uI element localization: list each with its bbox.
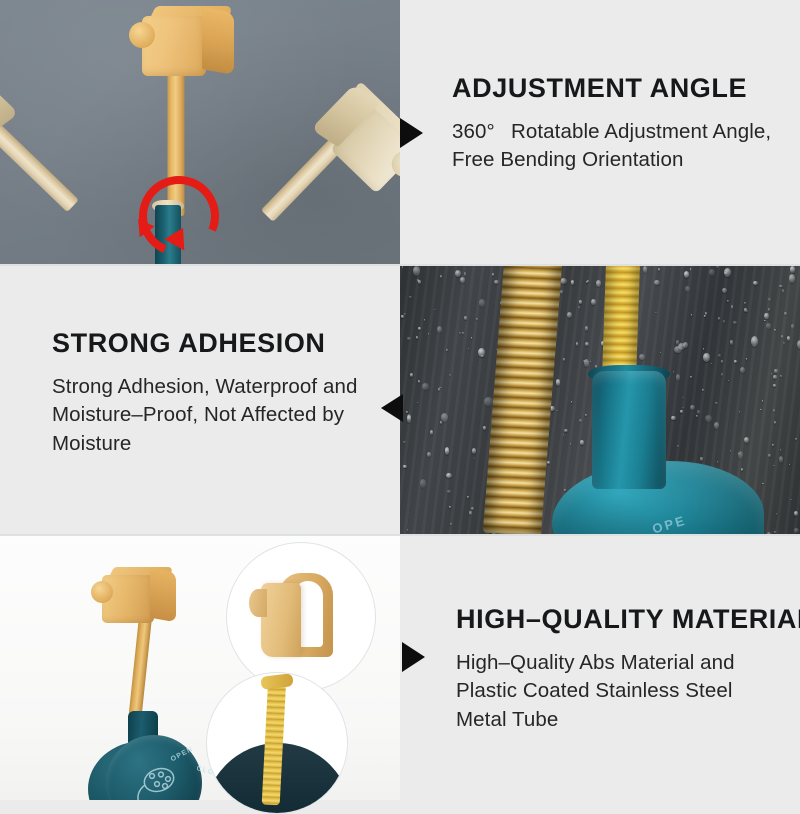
water-droplet bbox=[403, 441, 406, 444]
water-droplet bbox=[476, 318, 478, 321]
water-droplet bbox=[471, 337, 473, 339]
water-droplet bbox=[760, 409, 762, 410]
water-droplet bbox=[472, 448, 477, 454]
water-droplet bbox=[643, 266, 647, 272]
water-droplet bbox=[474, 458, 475, 459]
water-droplet bbox=[469, 511, 471, 514]
water-droplet bbox=[438, 388, 441, 391]
feature-text-high-quality-material: HIGH–QUALITY MATERIAL High–Quality Abs M… bbox=[400, 535, 800, 800]
water-droplet bbox=[717, 461, 718, 463]
water-droplet bbox=[782, 289, 785, 293]
water-droplet bbox=[596, 280, 602, 287]
water-droplet bbox=[771, 373, 772, 375]
water-droplet bbox=[705, 415, 712, 422]
feature-title: ADJUSTMENT ANGLE bbox=[452, 74, 778, 102]
water-droplet bbox=[494, 280, 499, 284]
feature-description: 360° Rotatable Adjustment Angle, Free Be… bbox=[452, 118, 778, 174]
water-droplet bbox=[684, 271, 690, 278]
infographic-sheet: ADJUSTMENT ANGLE 360° Rotatable Adjustme… bbox=[0, 0, 800, 800]
water-droplet bbox=[683, 342, 688, 349]
water-droplet bbox=[410, 373, 413, 377]
water-droplet bbox=[417, 402, 419, 403]
cradle-clip-illustration bbox=[255, 573, 341, 657]
water-droplet bbox=[401, 315, 403, 319]
water-droplet bbox=[741, 469, 744, 471]
water-droplet bbox=[467, 496, 469, 498]
feature-description-line: Plastic Coated Stainless Steel bbox=[456, 679, 732, 702]
water-droplet bbox=[703, 348, 704, 350]
water-droplet bbox=[714, 422, 720, 429]
feature-description-line: 360° Rotatable Adjustment Angle, bbox=[452, 120, 771, 143]
water-droplet bbox=[459, 332, 461, 334]
head-side-face bbox=[202, 7, 234, 75]
water-droplet bbox=[441, 413, 448, 422]
water-droplet bbox=[780, 449, 782, 451]
water-droplet bbox=[591, 299, 596, 305]
triangle-left-icon bbox=[381, 394, 403, 422]
water-droplet bbox=[658, 268, 661, 271]
water-droplet bbox=[781, 335, 784, 338]
water-droplet bbox=[705, 312, 707, 315]
water-droplet bbox=[691, 314, 693, 316]
water-droplet bbox=[789, 464, 790, 466]
water-droplet bbox=[418, 327, 421, 330]
water-droplet bbox=[685, 286, 690, 292]
water-droplet bbox=[704, 315, 706, 317]
water-droplet bbox=[690, 268, 692, 271]
water-droplet bbox=[447, 490, 451, 493]
water-droplet bbox=[484, 397, 492, 406]
feature-description-line: Strong Adhesion, Waterproof and bbox=[52, 375, 357, 398]
water-droplet bbox=[730, 450, 731, 452]
water-droplet bbox=[723, 320, 725, 323]
water-droplet bbox=[468, 348, 470, 349]
water-droplet bbox=[440, 421, 443, 424]
clip-side-tab bbox=[249, 589, 267, 617]
water-droplet bbox=[780, 375, 782, 377]
water-droplet bbox=[585, 414, 587, 416]
tube-base-detail bbox=[206, 672, 348, 814]
water-droplet bbox=[711, 363, 712, 364]
water-droplet bbox=[790, 266, 795, 272]
water-droplet bbox=[585, 342, 589, 346]
water-droplet bbox=[734, 360, 736, 363]
feature-title: STRONG ADHESION bbox=[52, 329, 378, 357]
water-droplet bbox=[774, 369, 777, 373]
triangle-right-icon bbox=[402, 642, 425, 672]
water-droplet bbox=[449, 506, 451, 508]
water-droplet bbox=[702, 389, 704, 391]
water-droplet bbox=[696, 415, 698, 417]
water-droplet bbox=[690, 405, 696, 410]
water-droplet bbox=[671, 416, 675, 421]
feature-row-high-quality-material: OPEN CLOSE bbox=[0, 535, 800, 800]
water-droplet bbox=[721, 360, 723, 363]
water-droplet bbox=[700, 457, 703, 460]
water-droplet bbox=[773, 409, 776, 412]
holder-head bbox=[102, 567, 176, 625]
water-droplet bbox=[721, 373, 724, 377]
head-side-face bbox=[150, 568, 176, 623]
clip-front-wall bbox=[261, 583, 301, 657]
water-droplet bbox=[409, 296, 411, 298]
water-droplet bbox=[790, 499, 791, 500]
water-droplet bbox=[462, 332, 464, 334]
water-droplet bbox=[676, 374, 681, 381]
head-side-face bbox=[0, 70, 19, 132]
cradle-clip-detail bbox=[226, 542, 376, 692]
water-droplet bbox=[655, 312, 657, 313]
feature-description-line: Free Bending Orientation bbox=[452, 148, 683, 171]
water-droplet bbox=[471, 507, 474, 510]
feature-description-line: Moisture–Proof, Not Affected by bbox=[52, 403, 344, 426]
water-droplet bbox=[464, 316, 468, 320]
water-droplet bbox=[420, 479, 426, 488]
water-droplet bbox=[762, 400, 763, 402]
water-droplet bbox=[744, 437, 749, 443]
water-droplet bbox=[434, 309, 435, 311]
water-droplet bbox=[677, 445, 678, 447]
water-droplet bbox=[403, 465, 406, 469]
water-droplet bbox=[779, 456, 783, 463]
water-droplet bbox=[428, 333, 429, 335]
water-droplet bbox=[730, 340, 733, 344]
water-droplet bbox=[715, 402, 718, 404]
water-droplet bbox=[450, 523, 452, 525]
water-droplet bbox=[738, 451, 744, 460]
water-droplet bbox=[774, 421, 776, 424]
water-droplet bbox=[673, 371, 674, 373]
water-droplet bbox=[751, 336, 758, 347]
water-droplet bbox=[784, 312, 787, 315]
head-ball-joint bbox=[91, 581, 113, 603]
water-droplet bbox=[768, 308, 770, 311]
teal-fitting-neck bbox=[592, 371, 666, 489]
water-droplet bbox=[728, 380, 729, 381]
water-droplet bbox=[787, 336, 790, 341]
water-droplet bbox=[660, 352, 662, 354]
feature-title: HIGH–QUALITY MATERIAL bbox=[456, 605, 778, 633]
water-droplet bbox=[418, 380, 420, 383]
water-droplet bbox=[744, 308, 747, 312]
water-droplet bbox=[402, 266, 404, 269]
row-divider bbox=[0, 534, 800, 536]
shower-head-line-icon bbox=[128, 765, 180, 800]
water-droplet bbox=[724, 268, 731, 276]
water-droplet bbox=[764, 313, 768, 320]
water-droplet bbox=[437, 326, 442, 333]
water-droplet bbox=[418, 280, 421, 284]
water-droplet bbox=[460, 277, 465, 283]
water-droplet bbox=[446, 349, 448, 352]
water-droplet bbox=[455, 270, 461, 277]
water-droplet bbox=[746, 358, 748, 360]
water-droplet bbox=[768, 454, 771, 456]
water-droplet bbox=[773, 375, 777, 379]
water-droplet bbox=[682, 397, 683, 399]
water-droplet bbox=[416, 336, 419, 339]
water-droplet bbox=[639, 354, 645, 361]
water-droplet bbox=[697, 410, 700, 414]
water-droplet bbox=[744, 302, 746, 304]
water-droplet bbox=[585, 326, 588, 331]
holder-rotation-photo bbox=[0, 0, 400, 265]
water-droplet bbox=[586, 281, 588, 283]
water-droplet bbox=[774, 329, 776, 332]
water-droplet bbox=[718, 354, 722, 357]
water-droplet bbox=[783, 342, 785, 345]
holder-head bbox=[142, 6, 234, 78]
base-label-open: OPEN bbox=[170, 746, 195, 764]
water-droplet bbox=[794, 511, 798, 516]
feature-description-line: Moisture bbox=[52, 432, 131, 455]
water-droplet bbox=[776, 513, 778, 515]
water-droplet bbox=[703, 353, 710, 361]
feature-text-adjustment-angle: ADJUSTMENT ANGLE 360° Rotatable Adjustme… bbox=[400, 0, 800, 265]
water-droplet bbox=[764, 320, 766, 322]
water-droplet bbox=[779, 285, 783, 288]
water-droplet bbox=[774, 531, 777, 533]
water-droplet bbox=[407, 337, 410, 340]
water-droplet bbox=[772, 444, 774, 446]
water-droplet bbox=[479, 299, 486, 307]
water-droplet bbox=[422, 383, 429, 390]
water-droplet bbox=[740, 367, 745, 373]
water-droplet bbox=[427, 452, 432, 457]
water-droplet bbox=[739, 411, 740, 413]
feature-description: Strong Adhesion, Waterproof and Moisture… bbox=[52, 373, 378, 457]
water-droplet bbox=[445, 447, 450, 455]
water-droplet bbox=[773, 465, 775, 467]
water-droplet bbox=[709, 269, 715, 276]
water-droplet bbox=[733, 321, 737, 324]
water-droplet bbox=[794, 528, 799, 532]
wet-wall-photo: OPE bbox=[400, 265, 800, 535]
water-droplet bbox=[727, 300, 729, 303]
water-droplet bbox=[406, 411, 408, 413]
feature-text-strong-adhesion: STRONG ADHESION Strong Adhesion, Waterpr… bbox=[0, 265, 400, 535]
water-droplet bbox=[464, 272, 467, 275]
water-droplet bbox=[768, 298, 771, 301]
water-droplet bbox=[718, 317, 720, 320]
water-droplet bbox=[797, 340, 800, 349]
product-holder-assembly: OPEN CLOSE bbox=[92, 559, 212, 739]
head-front-face bbox=[142, 16, 206, 76]
water-droplet bbox=[795, 438, 796, 439]
water-droplet bbox=[492, 273, 494, 276]
water-droplet bbox=[682, 407, 684, 409]
water-droplet bbox=[407, 529, 408, 531]
water-droplet bbox=[424, 319, 425, 321]
suction-base: OPEN CLOSE bbox=[88, 735, 206, 800]
triangle-right-icon bbox=[400, 118, 423, 148]
water-droplet bbox=[404, 313, 405, 315]
row-divider bbox=[0, 264, 800, 266]
water-droplet bbox=[449, 374, 451, 376]
feature-description-line: High–Quality Abs Material and bbox=[456, 651, 735, 674]
water-droplet bbox=[407, 415, 412, 422]
water-droplet bbox=[690, 376, 693, 378]
tube-top-bend bbox=[260, 673, 293, 690]
water-droplet bbox=[753, 281, 758, 286]
water-droplet bbox=[446, 473, 452, 478]
water-droplet bbox=[654, 280, 660, 286]
water-droplet bbox=[590, 361, 591, 362]
water-droplet bbox=[722, 288, 727, 293]
water-droplet bbox=[762, 483, 764, 485]
water-droplet bbox=[440, 275, 442, 278]
water-droplet bbox=[731, 305, 733, 308]
water-droplet bbox=[483, 426, 486, 430]
water-droplet bbox=[773, 384, 777, 387]
water-droplet bbox=[413, 266, 420, 275]
water-droplet bbox=[791, 324, 794, 328]
water-droplet bbox=[680, 410, 683, 414]
water-droplet bbox=[746, 310, 748, 312]
feature-description-line: Metal Tube bbox=[456, 708, 558, 731]
water-droplet bbox=[789, 274, 795, 283]
water-droplet bbox=[766, 323, 771, 329]
head-ball-joint bbox=[129, 22, 155, 48]
feature-description: High–Quality Abs Material and Plastic Co… bbox=[456, 649, 778, 733]
water-droplet bbox=[430, 430, 433, 435]
